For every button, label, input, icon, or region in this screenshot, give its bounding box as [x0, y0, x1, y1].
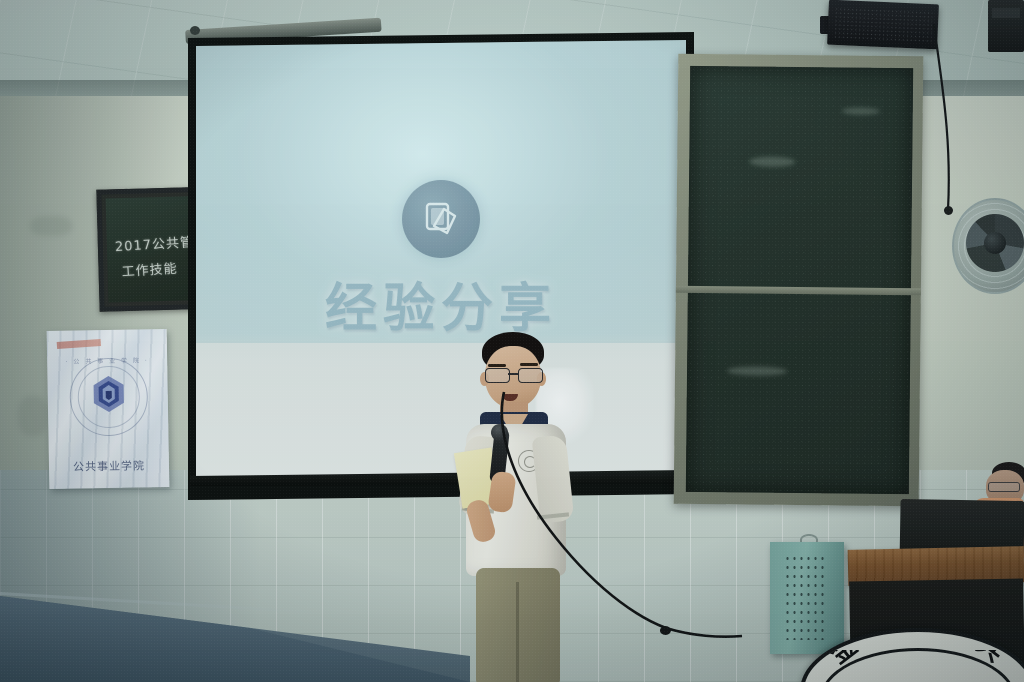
microphone-cable — [444, 388, 744, 656]
seated-person-glasses — [988, 482, 1020, 492]
banner-org-text: 公共事业学院 — [57, 457, 161, 475]
classroom-presentation-photo: 2017公共管理学 工作技能 · 公 共 事 业 学 院 · 公共事业学院 — [0, 0, 1024, 682]
floor-speaker-box — [770, 542, 844, 654]
speaker-box-perforations — [784, 554, 828, 640]
device-strip — [992, 8, 1020, 18]
hanging-power-cord — [930, 24, 970, 214]
arch-sign-text-wrap: 金融学院公共 — [804, 650, 1024, 682]
presenter-eyebrow-right — [520, 363, 538, 366]
glasses-bridge — [508, 373, 518, 375]
speaker-mesh — [833, 7, 932, 42]
glasses-lens-left — [485, 368, 510, 383]
wall-mounted-fan — [952, 198, 1024, 302]
presenter-glasses — [484, 368, 542, 382]
slide-title: 经验分享 — [196, 266, 686, 341]
chalk-text-line-2: 工作技能 — [121, 258, 178, 280]
wall-device — [988, 0, 1024, 52]
overlapping-documents-icon — [402, 180, 480, 258]
university-hexagon-emblem — [91, 374, 126, 415]
fan-hub — [984, 232, 1006, 254]
wall-speaker — [827, 0, 939, 49]
cable-knot — [660, 626, 671, 635]
screen-roller-knob — [190, 26, 200, 35]
department-banner: · 公 共 事 业 学 院 · 公共事业学院 — [47, 329, 170, 489]
presenter-eyebrow-left — [488, 364, 506, 367]
arch-sign-text: 金融学院公共 — [823, 650, 1011, 671]
fan-cage — [952, 198, 1024, 294]
glasses-lens-right — [518, 368, 543, 383]
